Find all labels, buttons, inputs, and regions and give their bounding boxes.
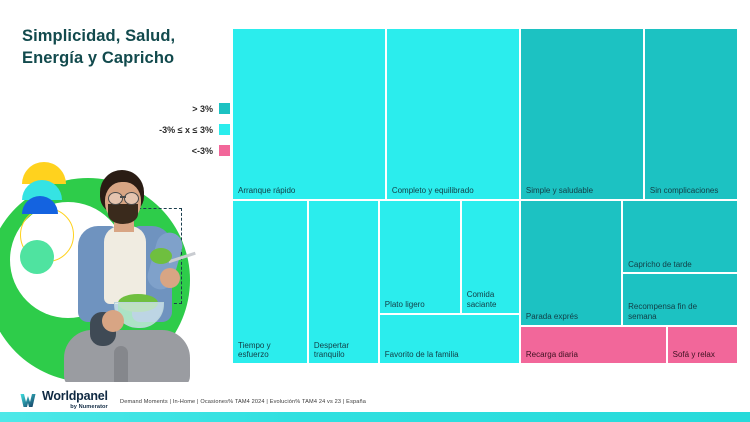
slide-root: Simplicidad, Salud, Energía y Capricho >… xyxy=(0,0,750,422)
treemap-cell[interactable]: Recompensa fin de semana xyxy=(622,273,738,325)
page-title: Simplicidad, Salud, Energía y Capricho xyxy=(22,26,232,70)
treemap-cell[interactable]: Sin complicaciones xyxy=(644,28,738,200)
worldpanel-logo-text: Worldpanel by Numerator xyxy=(42,390,108,410)
treemap-cell[interactable]: Arranque rápido xyxy=(232,28,386,200)
worldpanel-wordmark: Worldpanel xyxy=(42,390,108,403)
salad-on-fork xyxy=(150,248,172,264)
person-right-hand xyxy=(160,268,180,288)
mint-circle-shape xyxy=(20,240,54,274)
legend-item[interactable]: > 3% xyxy=(100,100,230,117)
worldpanel-logo: Worldpanel by Numerator xyxy=(20,390,108,410)
worldpanel-w-icon xyxy=(20,393,37,408)
treemap-cell[interactable]: Parada exprés xyxy=(520,200,622,326)
legend-color-swatch xyxy=(219,124,230,135)
person-beard xyxy=(108,204,138,224)
treemap-cell-label: Arranque rápido xyxy=(238,186,382,196)
treemap-cell-label: Parada exprés xyxy=(526,312,618,322)
hero-artwork xyxy=(0,150,228,385)
treemap-cell-label: Favorito de la familia xyxy=(385,350,516,360)
page-title-line-2: Energía y Capricho xyxy=(22,48,232,70)
person-leg-shadow xyxy=(114,346,128,385)
treemap-cell[interactable]: Despertar tranquilo xyxy=(308,200,379,364)
treemap-cell[interactable]: Recarga diaria xyxy=(520,326,667,364)
glasses-right-lens-icon xyxy=(124,192,139,205)
footer-accent-bar xyxy=(0,412,750,422)
treemap-cell-label: Completo y equilibrado xyxy=(392,186,516,196)
treemap-cell-label: Despertar tranquilo xyxy=(314,341,375,360)
treemap-cell-label: Plato ligero xyxy=(385,300,457,310)
treemap-cell[interactable]: Plato ligero xyxy=(379,200,461,314)
treemap-cell-label: Sofá y relax xyxy=(673,350,734,360)
treemap-cell[interactable]: Tiempo y esfuerzo xyxy=(232,200,308,364)
legend-item-label: -3% ≤ x ≤ 3% xyxy=(159,125,213,135)
footer-note: Demand Moments | In-Home | Ocasiones% TA… xyxy=(120,399,366,405)
worldpanel-byline: by Numerator xyxy=(42,405,108,411)
treemap-cell-label: Recarga diaria xyxy=(526,350,663,360)
glasses-left-lens-icon xyxy=(108,192,123,205)
person-photo xyxy=(56,160,196,385)
treemap-cell-label: Capricho de tarde xyxy=(628,260,734,270)
page-title-line-1: Simplicidad, Salud, xyxy=(22,26,232,48)
treemap-cell[interactable]: Sofá y relax xyxy=(667,326,738,364)
legend-color-swatch xyxy=(219,103,230,114)
treemap-cell-label: Comida saciante xyxy=(467,290,516,309)
person-left-hand xyxy=(102,310,124,332)
treemap-cell-label: Sin complicaciones xyxy=(650,186,734,196)
treemap-cell[interactable]: Completo y equilibrado xyxy=(386,28,520,200)
person-shirt xyxy=(104,226,146,304)
treemap-cell-label: Simple y saludable xyxy=(526,186,640,196)
glasses-bridge-icon xyxy=(120,196,126,198)
treemap-cell[interactable]: Comida saciante xyxy=(461,200,520,314)
treemap-cell[interactable]: Capricho de tarde xyxy=(622,200,738,273)
treemap-cell[interactable]: Simple y saludable xyxy=(520,28,644,200)
legend-item[interactable]: -3% ≤ x ≤ 3% xyxy=(100,121,230,138)
treemap-cell-label: Recompensa fin de semana xyxy=(628,302,734,321)
treemap-cell-label: Tiempo y esfuerzo xyxy=(238,341,304,360)
slide-footer: Worldpanel by Numerator Demand Moments |… xyxy=(0,382,750,422)
treemap-cell[interactable]: Favorito de la familia xyxy=(379,314,520,364)
legend-item-label: > 3% xyxy=(192,104,213,114)
treemap-chart: Arranque rápidoCompleto y equilibradoSim… xyxy=(232,28,738,364)
